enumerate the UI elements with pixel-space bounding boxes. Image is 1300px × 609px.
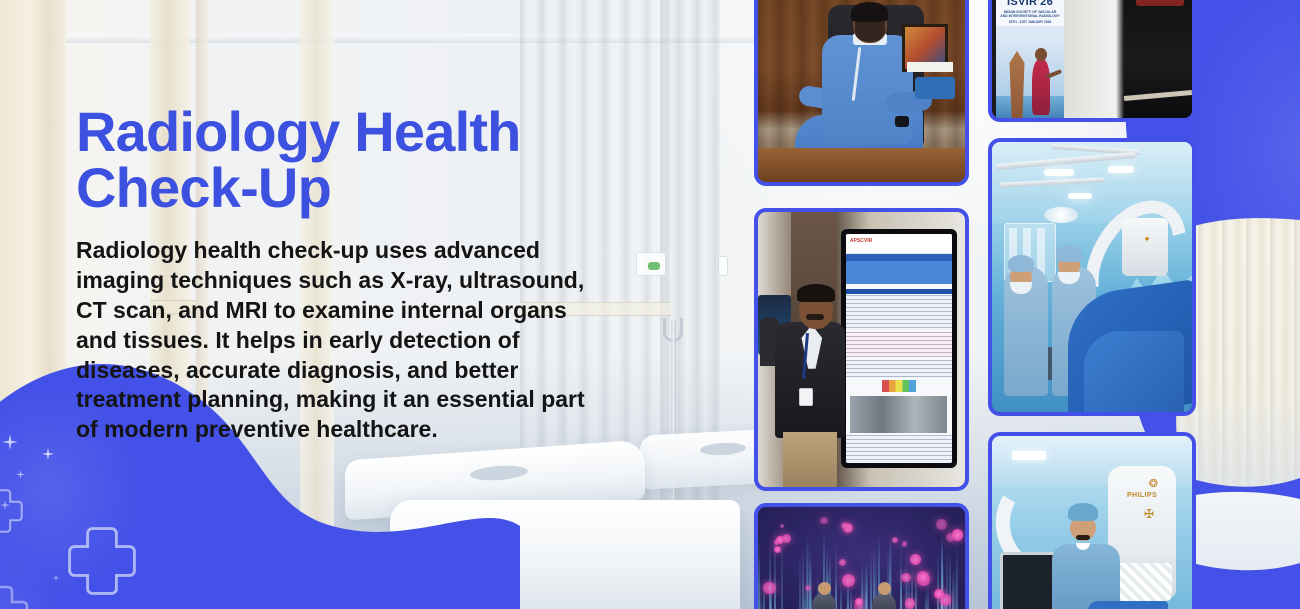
stage-graphic-bar [809, 547, 811, 609]
poster-canvas: Radiology Health Check-Up Radiology heal… [0, 0, 1300, 609]
stage-graphic-bar [769, 544, 771, 609]
desk-papers [907, 62, 953, 72]
stage-graphic-bar [866, 559, 868, 609]
eposter-title-bar [846, 261, 952, 284]
c-arm-marking-icon: ✦ [1134, 234, 1160, 256]
patient-surgical-drape-fold [1084, 331, 1184, 412]
photo-doctor-scrubs[interactable] [754, 0, 969, 186]
stage-backdrop-graphics [758, 507, 965, 609]
stage-graphic-node [805, 585, 811, 591]
stage-graphic-node [774, 546, 781, 553]
eposter-section-introduction [846, 295, 952, 329]
eposter-imaging-figures [850, 396, 947, 433]
photo-philips-carm[interactable]: ❂ PHILIPS ✠ [988, 432, 1196, 609]
stage-graphic-node [842, 574, 855, 587]
photo-isvir-standee-scene: ISVIR'26 INDIAN SOCIETY OF VASCULAR AND … [992, 0, 1192, 118]
presenter-trousers [783, 432, 837, 487]
surgical-lamp [1044, 207, 1078, 223]
eposter-text-lines-2 [846, 332, 952, 357]
photo-cathlab-team-scene: ✦ [992, 142, 1192, 412]
doctor-surgical-cap [1068, 503, 1098, 521]
stage-graphic-bar [760, 582, 762, 609]
stage-graphic-node [763, 582, 776, 595]
eposter-section-conclusion [846, 435, 952, 463]
stage-graphic-node [839, 559, 846, 566]
isvir-banner-title: ISVIR'26 [1000, 0, 1060, 8]
eposter-display: APSCVIR [841, 229, 957, 468]
surgeon-right-cap [1056, 245, 1082, 262]
stage-graphic-node [776, 536, 784, 544]
stage-graphic-bar [956, 545, 958, 609]
stage-graphic-bar [835, 536, 837, 609]
stage-graphic-bar [758, 555, 760, 609]
photo-data-stage[interactable] [754, 503, 969, 609]
stage-graphic-node [936, 519, 947, 530]
body-paragraph: Radiology health check-up uses advanced … [76, 236, 596, 445]
tower-auspicious-symbol-icon: ✠ [1144, 507, 1154, 521]
stage-graphic-node [902, 541, 908, 547]
doctor-moustache [1076, 535, 1090, 540]
stage-graphic-node [892, 537, 898, 543]
presenter-hair [797, 284, 835, 302]
stage-graphic-bar [850, 588, 852, 609]
cath-lab-ceiling-light [1012, 451, 1046, 460]
stage-graphic-node [901, 573, 910, 582]
ceiling-light-3 [1068, 193, 1092, 199]
eposter-section-methods [846, 332, 952, 357]
photo-doctor-scrubs-scene [758, 0, 965, 182]
hall-red-seating [1136, 0, 1184, 6]
text-block: Radiology Health Check-Up Radiology heal… [76, 104, 616, 445]
eposter-text-lines-1 [846, 295, 952, 329]
cath-lab-monitor [1000, 552, 1056, 609]
isvir-banner-dates: 29TH - 31ST JANUARY 2026 [1000, 20, 1060, 24]
procedure-table-drape [1088, 601, 1168, 609]
stage-graphic-node [820, 517, 828, 525]
eposter-colour-scale [882, 380, 916, 391]
eposter-accent-bar-2 [846, 289, 952, 295]
stage-graphic-bar [900, 536, 902, 609]
photo-philips-carm-scene: ❂ PHILIPS ✠ [992, 436, 1192, 609]
doctor-torso-scrubs [822, 35, 913, 144]
wall-fixture-switch [718, 256, 728, 276]
page-title: Radiology Health Check-Up [76, 104, 616, 216]
stage-graphic-bar [781, 534, 783, 609]
wooden-desk-front [758, 148, 965, 182]
stage-graphic-bar [840, 583, 842, 609]
eposter-screen-content: APSCVIR [846, 234, 952, 463]
presenter-moustache [806, 314, 824, 320]
eposter-section-results [846, 360, 952, 378]
stage-graphic-bar [954, 565, 956, 609]
doctor-gown-torso [1052, 544, 1120, 609]
surgeon-left-cap [1008, 255, 1034, 272]
doctor-hair [851, 2, 888, 22]
photo-data-stage-scene [758, 507, 965, 609]
stage-graphic-node [952, 529, 963, 540]
stage-graphic-bar [927, 582, 929, 609]
stage-graphic-node [780, 524, 785, 529]
eposter-text-lines-4 [846, 435, 952, 463]
stage-speaker-2 [872, 593, 896, 609]
stage-graphic-bar [799, 553, 801, 609]
standee-artwork-dancer-head [1035, 48, 1047, 61]
standee-artwork-water [996, 96, 1064, 118]
standee-artwork-dancer-body [1032, 59, 1050, 115]
eposter-accent-bar-1 [846, 254, 952, 261]
ceiling-light-2 [1108, 166, 1134, 173]
wall-fixture-indicator [648, 262, 660, 270]
eposter-logo: APSCVIR [850, 238, 872, 244]
stage-graphic-bar [937, 554, 939, 609]
photo-cathlab-team[interactable]: ✦ [988, 138, 1196, 416]
presenter-badge [799, 388, 813, 406]
wristwatch [895, 116, 909, 127]
sterile-cover-wrap [1112, 563, 1172, 600]
stage-graphic-bar [925, 591, 927, 609]
stage-graphic-node [905, 598, 915, 608]
ceiling-light-1 [1044, 169, 1074, 176]
photo-eposter[interactable]: APSCVIR [754, 208, 969, 491]
equipment-brand-label: PHILIPS [1116, 492, 1168, 499]
isvir-banner-subtitle: INDIAN SOCIETY OF VASCULAR AND INTERVENT… [1000, 10, 1060, 18]
stage-graphic-node [910, 554, 921, 565]
photo-isvir-standee[interactable]: ISVIR'26 INDIAN SOCIETY OF VASCULAR AND … [988, 0, 1196, 122]
photo-eposter-scene: APSCVIR [758, 212, 965, 487]
eposter-text-lines-3 [846, 360, 952, 378]
tower-decoration-icon: ❂ [1149, 477, 1158, 490]
stage-speaker-1 [812, 593, 836, 609]
desk-blue-box [915, 77, 955, 99]
curtain-rail [0, 34, 760, 43]
darkened-hall-background [1124, 0, 1192, 118]
